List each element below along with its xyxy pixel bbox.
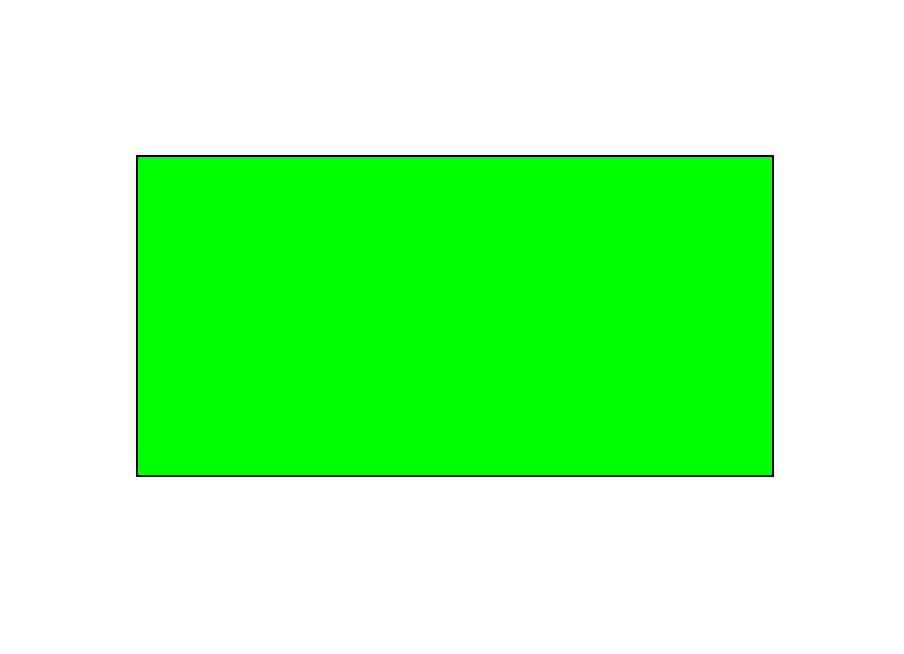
- contour-field: [138, 157, 772, 475]
- figure-canvas: [0, 0, 904, 654]
- contour-plot-area: [136, 155, 774, 477]
- colorbar: [782, 238, 804, 478]
